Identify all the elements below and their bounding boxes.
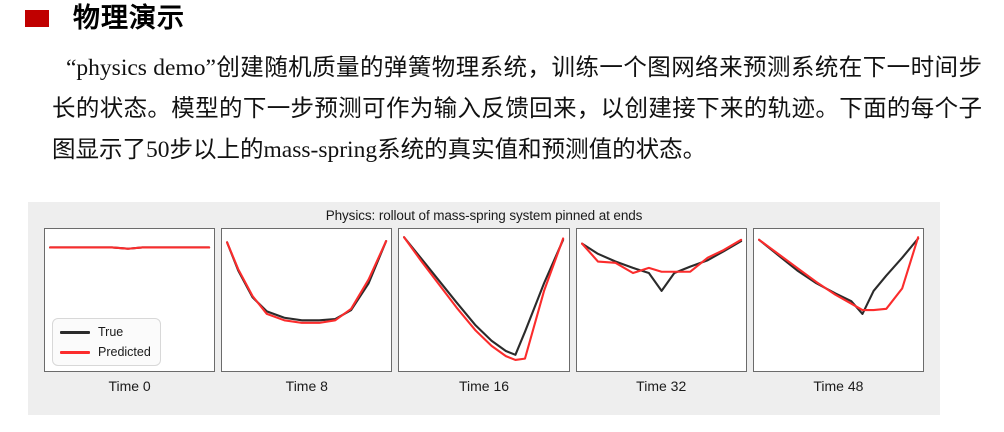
figure-container: Physics: rollout of mass-spring system p… (28, 202, 940, 415)
chart-panel: Time 8 (221, 228, 392, 394)
bullet-square-icon (25, 10, 49, 27)
body-paragraph: “physics demo”创建随机质量的弹簧物理系统，训练一个图网络来预测系统… (52, 48, 982, 171)
legend-label: Predicted (98, 345, 151, 359)
panel-plot-area[interactable]: TruePredicted (44, 228, 215, 372)
series-line-true (759, 239, 918, 314)
legend-item: True (60, 325, 151, 339)
panel-time-label: Time 48 (813, 378, 863, 394)
chart-legend: TruePredicted (52, 318, 161, 366)
figure-panels: TruePredictedTime 0Time 8Time 16Time 32T… (44, 228, 924, 394)
series-line-predicted (404, 237, 563, 360)
series-line-predicted (50, 247, 209, 248)
chart-panel: Time 16 (398, 228, 569, 394)
series-line-predicted (759, 237, 918, 310)
series-line-true (227, 241, 386, 320)
slide: 物理演示 “physics demo”创建随机质量的弹簧物理系统，训练一个图网络… (0, 0, 1004, 432)
panel-plot-area[interactable] (398, 228, 569, 372)
legend-item: Predicted (60, 345, 151, 359)
panel-plot-area[interactable] (221, 228, 392, 372)
page-title: 物理演示 (73, 4, 185, 34)
legend-swatch-icon (60, 331, 90, 334)
figure-title: Physics: rollout of mass-spring system p… (28, 208, 940, 223)
legend-label: True (98, 325, 123, 339)
panel-time-label: Time 0 (108, 378, 150, 394)
chart-panel: Time 48 (753, 228, 924, 394)
panel-plot-area[interactable] (753, 228, 924, 372)
panel-time-label: Time 32 (636, 378, 686, 394)
series-line-true (582, 241, 741, 291)
chart-panel: TruePredictedTime 0 (44, 228, 215, 394)
panel-time-label: Time 8 (286, 378, 328, 394)
panel-plot-area[interactable] (576, 228, 747, 372)
slide-header: 物理演示 (25, 4, 185, 34)
chart-panel: Time 32 (576, 228, 747, 394)
panel-time-label: Time 16 (459, 378, 509, 394)
legend-swatch-icon (60, 351, 90, 354)
series-line-predicted (227, 241, 386, 323)
